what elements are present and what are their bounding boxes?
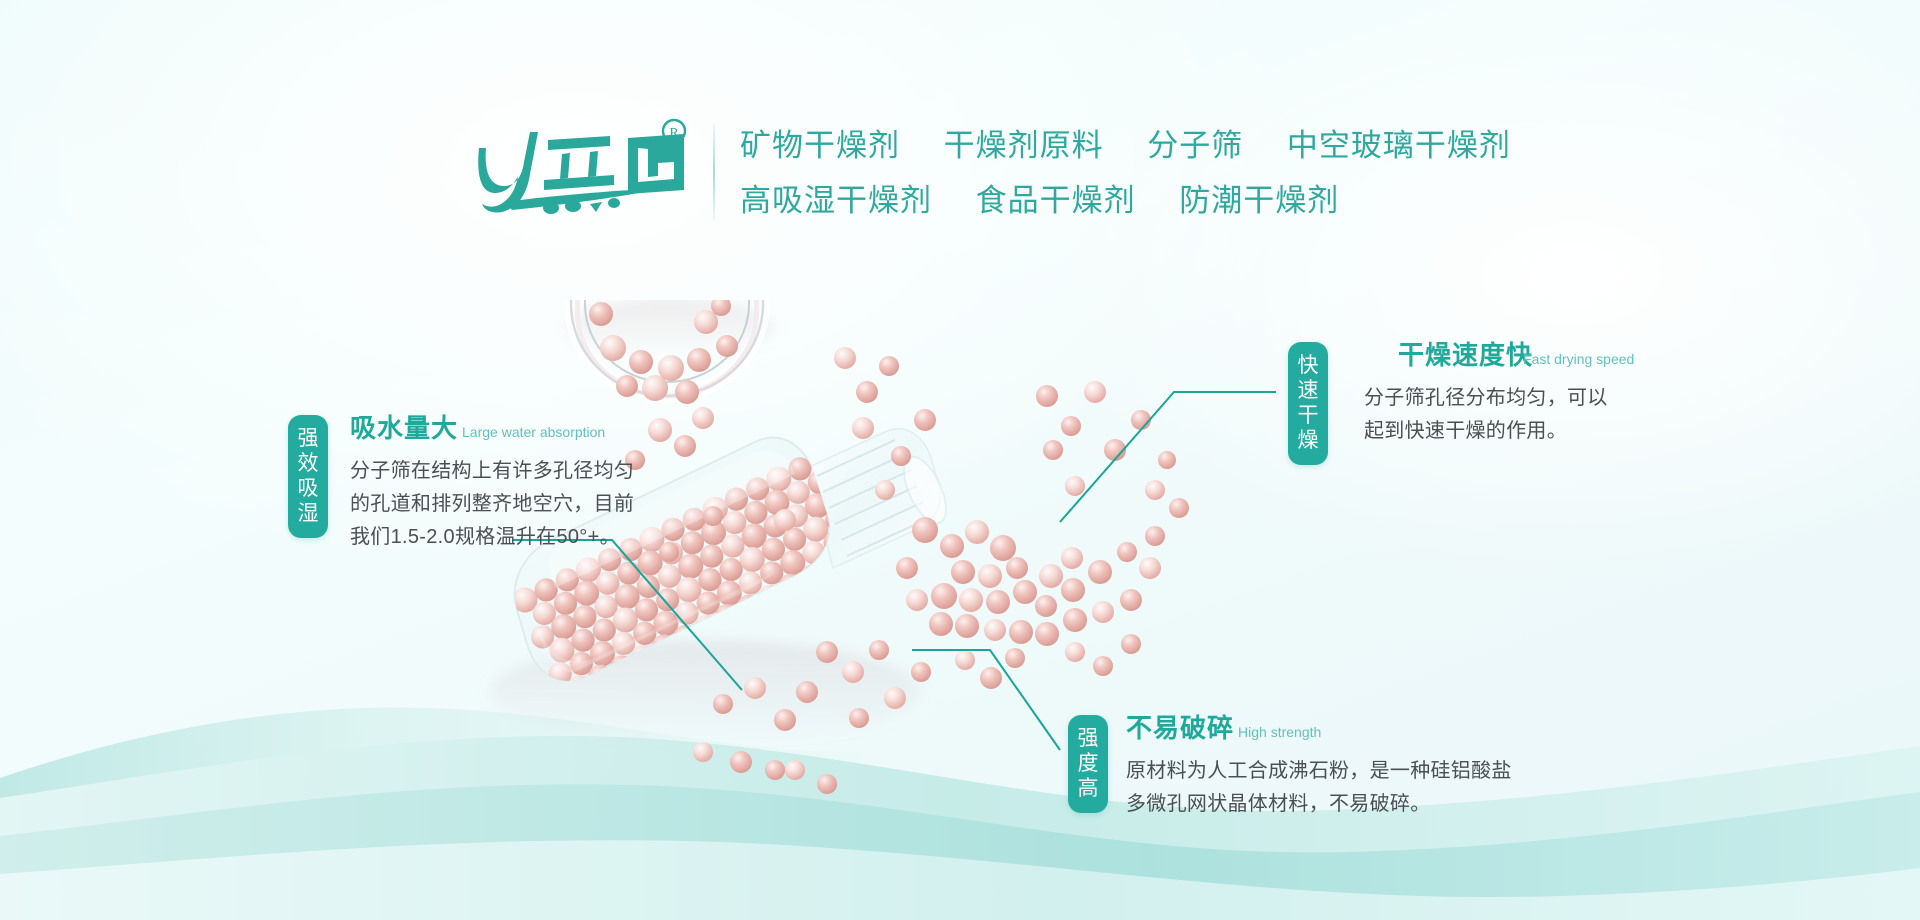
annotation-title-cn: 干燥速度快 xyxy=(1398,340,1533,370)
annotation-description: 分子筛在结构上有许多孔径均匀 的孔道和排列整齐地空穴，目前 我们1.5-2.0规… xyxy=(350,455,634,554)
header: R 矿物干燥剂 干燥剂原料 分子筛 中空玻璃干燥剂 高吸湿干燥剂 食品干燥剂 防… xyxy=(0,118,1920,228)
annotation-body: 不易破碎High strength 原材料为人工合成沸石粉，是一种硅铝酸盐 多微… xyxy=(1126,715,1512,821)
header-keyword-list: 矿物干燥剂 干燥剂原料 分子筛 中空玻璃干燥剂 高吸湿干燥剂 食品干燥剂 防潮干… xyxy=(740,118,1511,228)
annotation-title-en: Large water absorption xyxy=(462,424,605,440)
keyword-moisture-proof-desiccant[interactable]: 防潮干燥剂 xyxy=(1179,173,1339,228)
badge-fast-drying: 快 速 干 燥 xyxy=(1288,342,1328,465)
keyword-mineral-desiccant[interactable]: 矿物干燥剂 xyxy=(740,118,900,173)
annotation-title-en: Fast drying speed xyxy=(1523,351,1634,367)
annotation-body: 干燥速度快Fast drying speed 分子筛孔径分布均匀，可以 起到快速… xyxy=(1346,342,1634,448)
badge-char: 高 xyxy=(1068,776,1108,801)
keyword-insulating-glass-desiccant[interactable]: 中空玻璃干燥剂 xyxy=(1287,118,1511,173)
badge-char: 快 xyxy=(1288,353,1328,378)
banner-root: R 矿物干燥剂 干燥剂原料 分子筛 中空玻璃干燥剂 高吸湿干燥剂 食品干燥剂 防… xyxy=(0,0,1920,920)
desc-line: 我们1.5-2.0规格温升在50°+。 xyxy=(350,521,634,554)
annotation-body: 吸水量大Large water absorption 分子筛在结构上有许多孔径均… xyxy=(346,415,634,554)
desc-line: 多微孔网状晶体材料，不易破碎。 xyxy=(1126,788,1512,821)
badge-char: 度 xyxy=(1068,751,1108,776)
badge-char: 燥 xyxy=(1288,428,1328,453)
annotation-title-cn: 吸水量大 xyxy=(350,413,458,443)
annotation-title-en: High strength xyxy=(1238,724,1321,740)
badge-char: 干 xyxy=(1288,403,1328,428)
annotation-title: 干燥速度快Fast drying speed xyxy=(1398,342,1634,368)
annotation-title: 不易破碎High strength xyxy=(1126,715,1512,741)
header-keyword-line-1: 矿物干燥剂 干燥剂原料 分子筛 中空玻璃干燥剂 xyxy=(740,118,1511,173)
annotation-description: 原材料为人工合成沸石粉，是一种硅铝酸盐 多微孔网状晶体材料，不易破碎。 xyxy=(1126,755,1512,821)
badge-char: 吸 xyxy=(288,476,328,501)
desc-line: 分子筛在结构上有许多孔径均匀 xyxy=(350,455,634,488)
badge-strong-moisture-absorption: 强 效 吸 湿 xyxy=(288,415,328,538)
keyword-high-moisture-absorption-desiccant[interactable]: 高吸湿干燥剂 xyxy=(740,173,932,228)
brand-logo[interactable]: R xyxy=(478,118,693,226)
badge-char: 速 xyxy=(1288,378,1328,403)
badge-char: 强 xyxy=(1068,726,1108,751)
desc-line: 分子筛孔径分布均匀，可以 xyxy=(1364,382,1634,415)
badge-char: 效 xyxy=(288,451,328,476)
svg-text:R: R xyxy=(669,126,679,141)
badge-high-strength: 强 度 高 xyxy=(1068,715,1108,813)
keyword-food-desiccant[interactable]: 食品干燥剂 xyxy=(976,173,1136,228)
header-keyword-line-2: 高吸湿干燥剂 食品干燥剂 防潮干燥剂 xyxy=(740,173,1511,228)
annotation-description: 分子筛孔径分布均匀，可以 起到快速干燥的作用。 xyxy=(1364,382,1634,448)
keyword-molecular-sieve[interactable]: 分子筛 xyxy=(1147,118,1243,173)
header-divider xyxy=(713,124,715,220)
badge-char: 强 xyxy=(288,426,328,451)
keyword-desiccant-raw-material[interactable]: 干燥剂原料 xyxy=(944,118,1104,173)
annotation-title-cn: 不易破碎 xyxy=(1126,713,1234,743)
desc-line: 的孔道和排列整齐地空穴，目前 xyxy=(350,488,634,521)
desc-line: 起到快速干燥的作用。 xyxy=(1364,415,1634,448)
annotation-large-water-absorption: 强 效 吸 湿 吸水量大Large water absorption 分子筛在结… xyxy=(288,415,634,554)
badge-char: 湿 xyxy=(288,501,328,526)
annotation-high-strength: 强 度 高 不易破碎High strength 原材料为人工合成沸石粉，是一种硅… xyxy=(1068,715,1512,821)
desc-line: 原材料为人工合成沸石粉，是一种硅铝酸盐 xyxy=(1126,755,1512,788)
annotation-fast-drying-speed: 快 速 干 燥 干燥速度快Fast drying speed 分子筛孔径分布均匀… xyxy=(1288,342,1634,465)
annotation-title: 吸水量大Large water absorption xyxy=(350,415,634,441)
